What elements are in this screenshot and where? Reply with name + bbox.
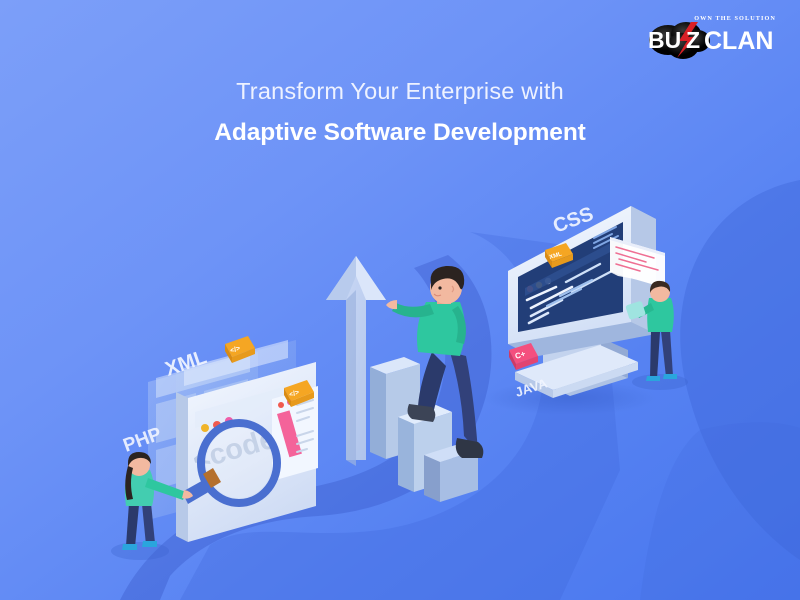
logo-tagline: OWN THE SOLUTION xyxy=(694,15,776,22)
logo-word-z: Z xyxy=(686,27,700,53)
headline-line-2: Adaptive Software Development xyxy=(0,119,800,147)
logo-word-buz: BU xyxy=(648,27,681,53)
headline-block: Transform Your Enterprise with Adaptive … xyxy=(0,78,800,147)
logo-word-clan: CLAN xyxy=(704,27,773,55)
brand-logo[interactable]: OWN THE SOLUTION BU Z CLAN xyxy=(646,14,778,62)
poster-canvas: XML C+ CSS JAVA xyxy=(0,0,800,600)
logo-wordmark: BU Z CLAN xyxy=(646,22,778,56)
headline-line-1: Transform Your Enterprise with xyxy=(0,78,800,105)
